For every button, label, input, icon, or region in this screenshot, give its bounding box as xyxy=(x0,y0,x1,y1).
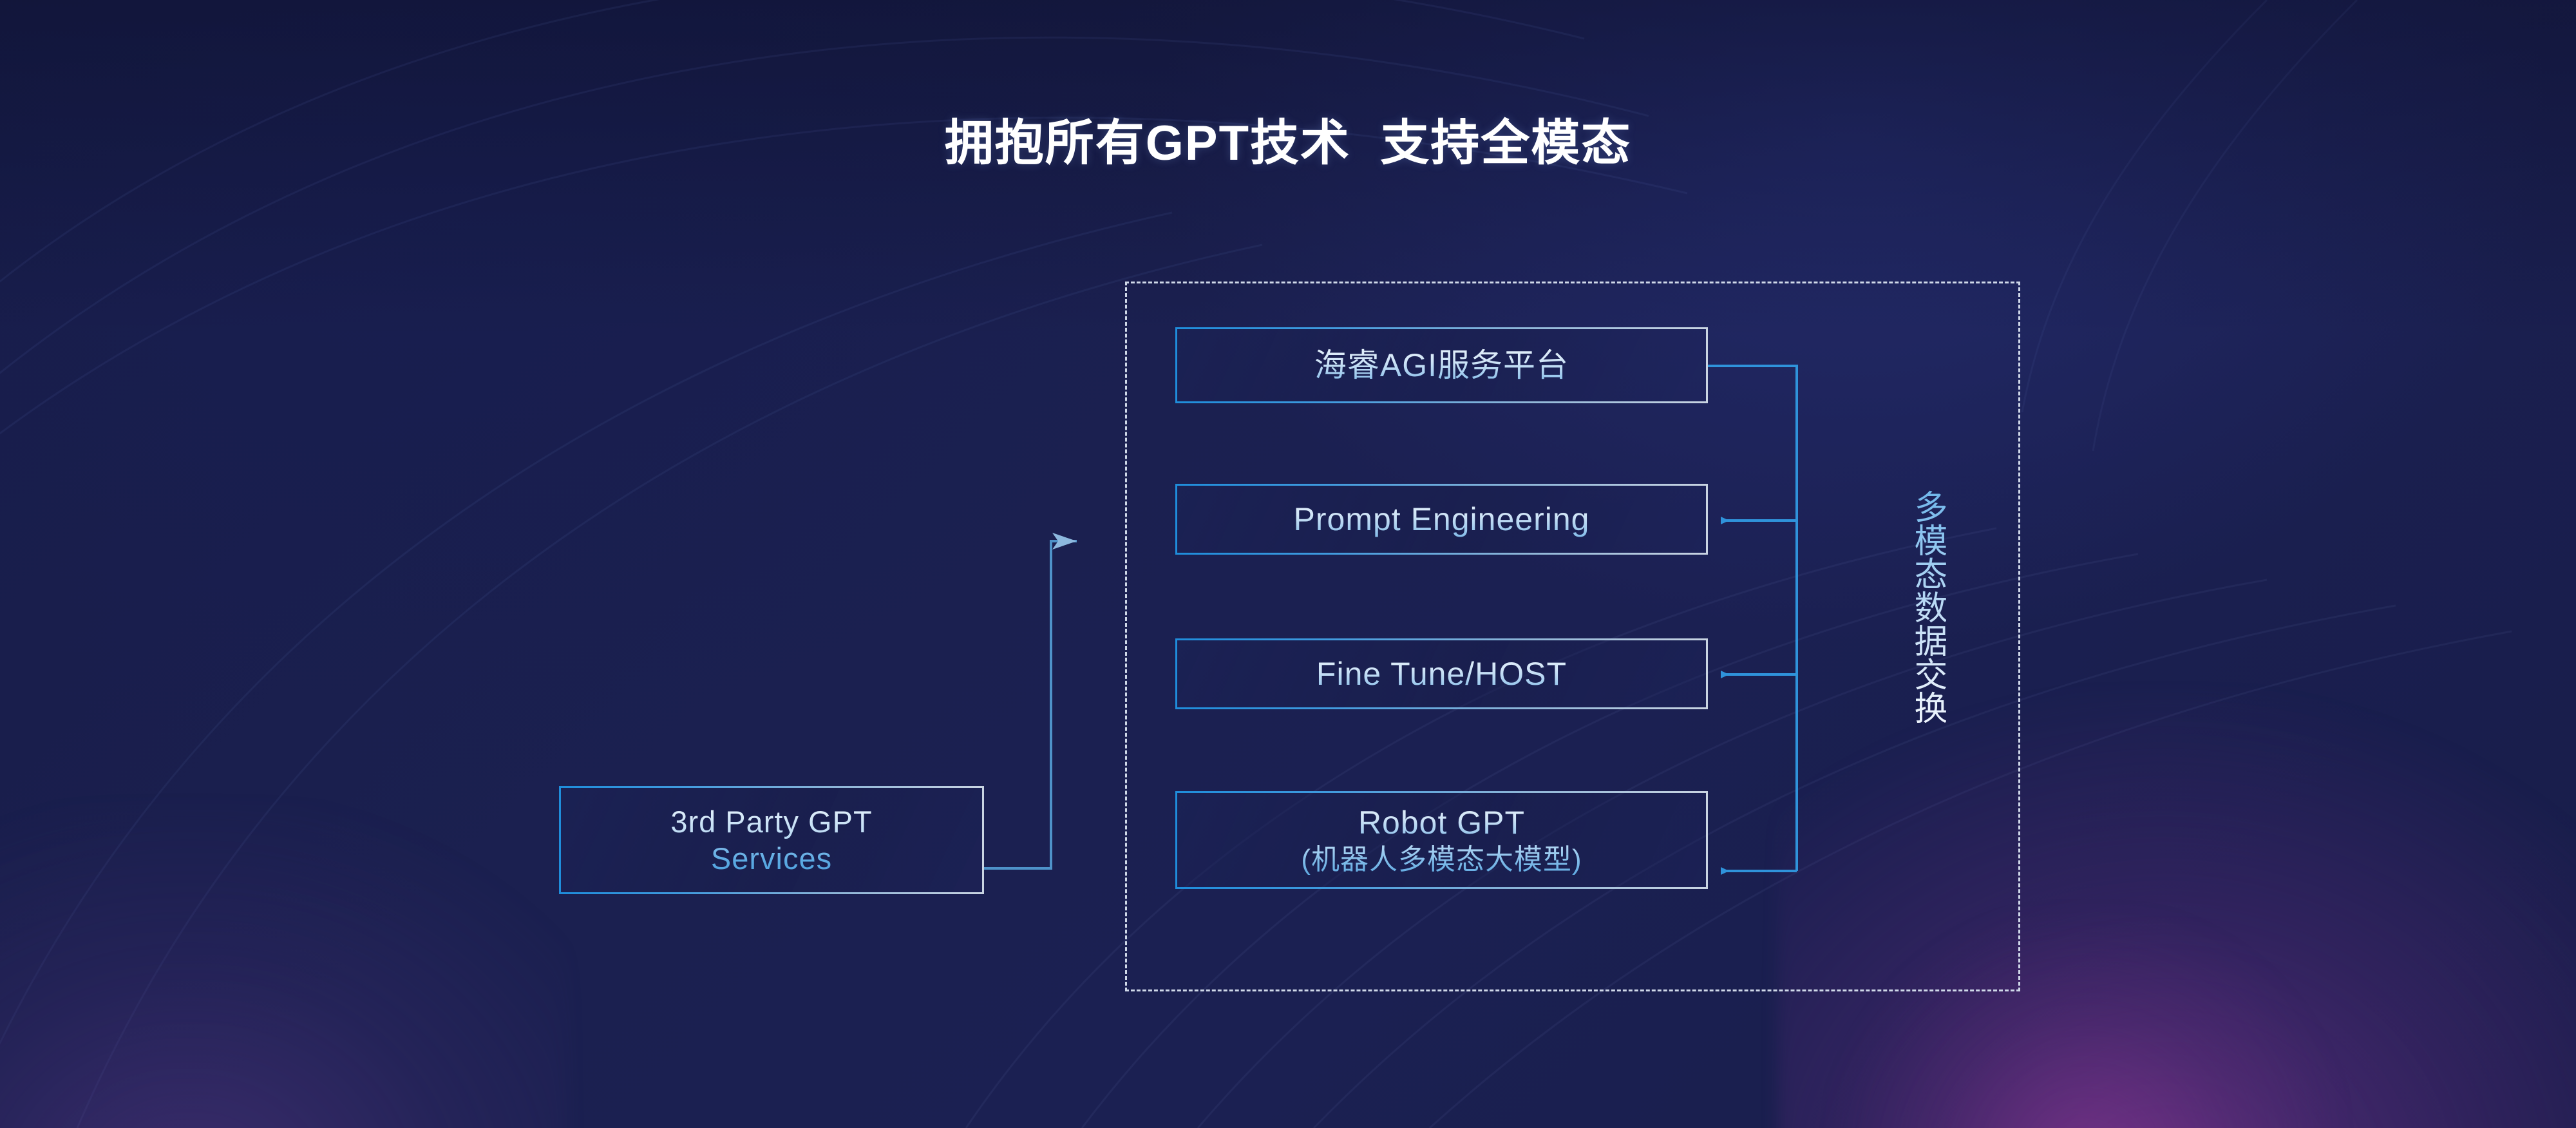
node-prompt-engineering[interactable]: Prompt Engineering xyxy=(1175,484,1708,555)
node-fine-tune-host-label: Fine Tune/HOST xyxy=(1316,655,1567,694)
side-label-multimodal-data-exchange: 多模态数据交换 xyxy=(1905,490,1946,724)
node-prompt-engineering-label: Prompt Engineering xyxy=(1294,500,1590,539)
node-third-party-gpt[interactable]: 3rd Party GPT Services xyxy=(559,786,984,894)
node-agi-platform-label: 海睿AGI服务平台 xyxy=(1314,346,1569,385)
node-robot-gpt-sublabel: (机器人多模态大模型) xyxy=(1301,843,1582,877)
node-fine-tune-host[interactable]: Fine Tune/HOST xyxy=(1175,638,1708,709)
node-third-party-gpt-label: 3rd Party GPT xyxy=(670,803,872,840)
page-title: 拥抱所有GPT技术 支持全模态 xyxy=(0,115,2576,173)
slide-canvas: 拥抱所有GPT技术 支持全模态 海睿 xyxy=(0,0,2576,1128)
node-robot-gpt-label: Robot GPT xyxy=(1358,803,1525,843)
node-agi-platform[interactable]: 海睿AGI服务平台 xyxy=(1175,327,1708,403)
node-third-party-gpt-sublabel: Services xyxy=(711,840,832,877)
node-robot-gpt[interactable]: Robot GPT (机器人多模态大模型) xyxy=(1175,791,1708,889)
background-glow-left xyxy=(0,806,567,1128)
